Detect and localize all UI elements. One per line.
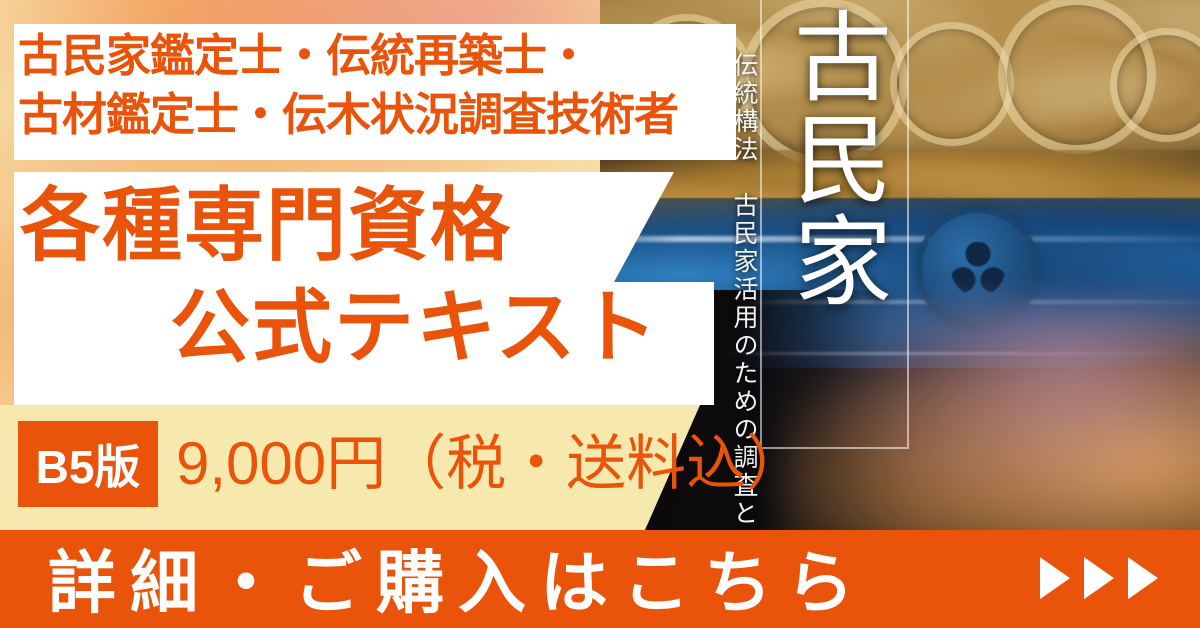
chevron-right-icon bbox=[1084, 557, 1114, 599]
headline-line-1: 各種専門資格 bbox=[20, 186, 512, 266]
cover-title-text: 古民家 bbox=[768, 6, 898, 312]
price-text: 9,000円（税・送料込） bbox=[176, 425, 806, 503]
chevron-right-icon bbox=[1040, 557, 1070, 599]
format-badge-label: B5版 bbox=[36, 431, 141, 497]
promo-banner: 古民家 伝統構法 古民家活用のための調査と再生の 古民家鑑定士・伝統再築士・ 古… bbox=[0, 0, 1200, 628]
headline-line-2: 公式テキスト bbox=[170, 288, 660, 368]
format-badge: B5版 bbox=[18, 421, 158, 507]
cta-arrow-group bbox=[1040, 557, 1158, 599]
qualification-list-text: 古民家鑑定士・伝統再築士・ 古材鑑定士・伝木状況調査技術者 bbox=[18, 26, 738, 145]
chevron-right-icon bbox=[1128, 557, 1158, 599]
cta-label: 詳細・ご購入はこちら bbox=[48, 528, 868, 627]
cta-bar[interactable]: 詳細・ご購入はこちら bbox=[0, 530, 1200, 628]
